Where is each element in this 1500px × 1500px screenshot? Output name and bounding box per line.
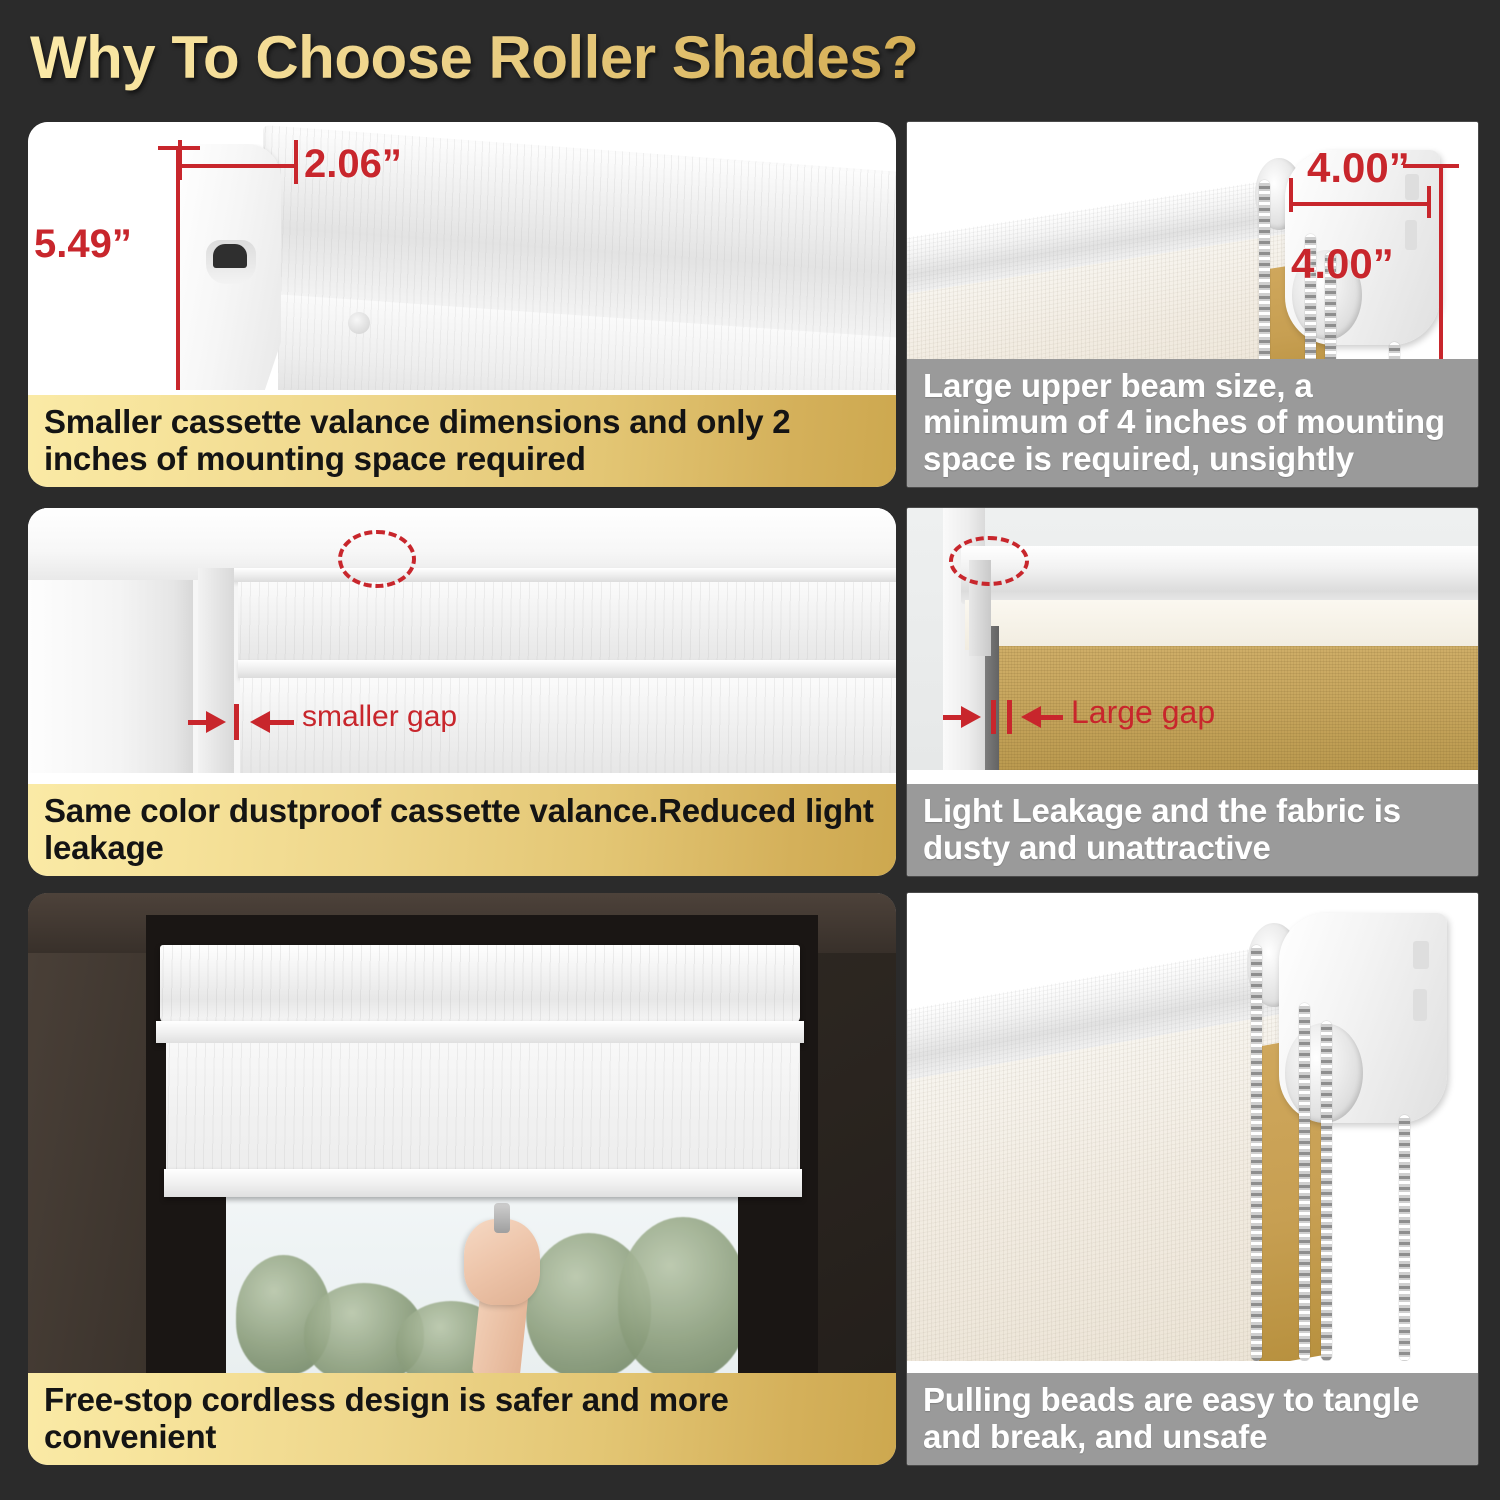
bead-chain-a [1251,945,1262,1361]
gap-arrow-left-stem [188,720,210,725]
bead-chain-1 [1259,180,1270,384]
cassette-slot [206,240,256,284]
cassette-screw-upper [348,312,370,334]
bracket-height-dim-line [1439,164,1443,364]
bead-chain-b [1299,1003,1310,1361]
panel-5-caption: Free-stop cordless design is safer and m… [28,1373,896,1465]
gap-marker-right [1007,700,1012,734]
panel-pulling-beads: Pulling beads are easy to tangle and bre… [907,893,1478,1465]
window-glass [226,1193,738,1375]
cassette-head [160,945,800,1023]
head-rail-lip [156,1021,804,1043]
large-gap-arrow-right [1021,706,1041,728]
bracket-width-dim-line [1291,202,1431,206]
panel-light-leakage: Large gap Light Leakage and the fabric i… [907,508,1478,876]
panel-1-caption: Smaller cassette valance dimensions and … [28,395,896,487]
bottom-rail-grip [494,1203,510,1233]
gap-marker-left [991,700,996,734]
panel-6-caption: Pulling beads are easy to tangle and bre… [907,1373,1478,1465]
gap-arrow-right-stem [268,720,294,725]
roller-head-tube [961,546,1478,604]
width-dim-tick-right [294,140,298,184]
panel-4-photo: Large gap [907,508,1478,770]
bracket-height-tick-top [1403,164,1459,168]
panel-large-upper-beam: 4.00” 4.00” Large upper beam size, a min… [907,122,1478,487]
panel-cordless-design: Free-stop cordless design is safer and m… [28,893,896,1465]
height-dim-tick-top [158,146,200,150]
panel-3-photo: smaller gap [28,508,896,773]
tree-5 [618,1217,738,1375]
bracket-tab-upper-large [1413,941,1429,969]
shade-mid-rail [238,660,896,678]
bead-chain-d [1399,1115,1410,1361]
gap-highlight-circle [338,530,416,588]
height-dimension-label: 5.49” [34,222,132,267]
gap-arrow-right [250,711,270,733]
gap-marker [234,704,239,740]
large-gap-arrow-left-stem [943,715,965,720]
panel-smaller-cassette: 2.06” 5.49” Smaller cassette valance dim… [28,122,896,487]
panel-6-photo [907,893,1478,1361]
bracket-width-tick-right [1427,186,1431,218]
bracket-tab-lower [1405,220,1417,250]
panel-5-photo [28,893,896,1375]
panel-dustproof-cassette: smaller gap Same color dustproof cassett… [28,508,896,876]
bottom-rail [164,1169,802,1197]
window-frame-left-edge [198,568,234,773]
white-fabric-band [965,600,1478,650]
height-dim-line [176,146,180,390]
large-gap-arrow-right-stem [1039,715,1063,720]
bracket-width-label: 4.00” [1307,144,1410,192]
panel-3-caption: Same color dustproof cassette valance.Re… [28,784,896,876]
gap-highlight-ellipse [949,536,1029,586]
panel-4-caption: Light Leakage and the fabric is dusty an… [907,784,1478,876]
width-dimension-label: 2.06” [304,142,402,187]
panel-1-photo: 2.06” 5.49” [28,122,896,390]
panel-2-caption: Large upper beam size, a minimum of 4 in… [907,359,1478,487]
shade-panel-upper [238,582,896,664]
bead-chain-c [1321,1021,1332,1361]
comparison-grid: 2.06” 5.49” Smaller cassette valance dim… [0,0,1500,1500]
width-dim-line [180,164,298,168]
bracket-width-tick-left [1289,178,1293,212]
panel-2-photo: 4.00” 4.00” [907,122,1478,384]
bracket-height-label: 4.00” [1291,240,1394,288]
smaller-gap-label: smaller gap [302,700,457,734]
cassette-head-rail [233,568,896,582]
bracket-tab-lower-large [1413,989,1427,1021]
large-gap-label: Large gap [1071,694,1215,731]
